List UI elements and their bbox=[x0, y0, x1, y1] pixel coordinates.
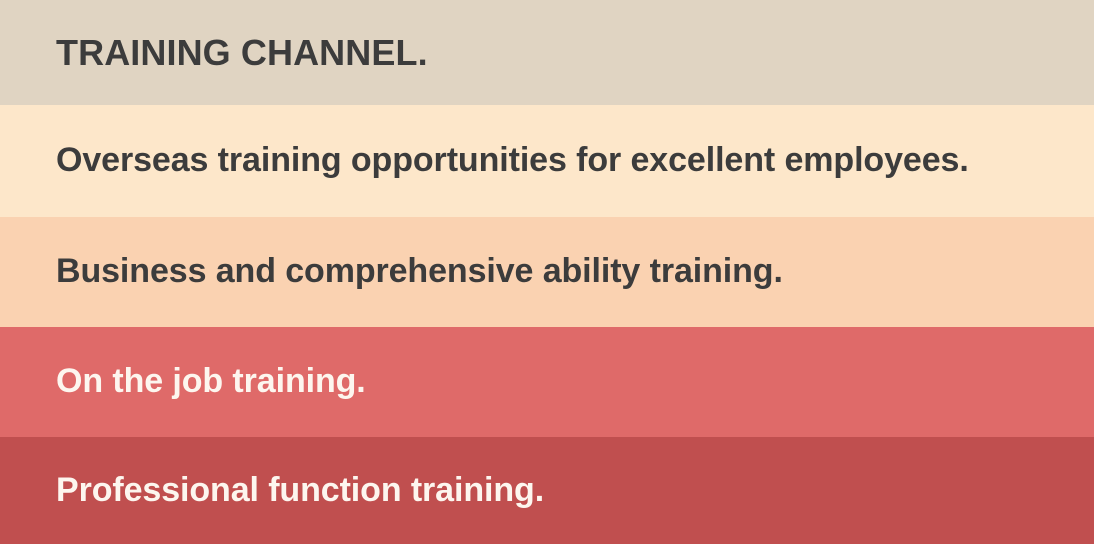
training-row-label: Professional function training. bbox=[56, 473, 544, 509]
training-channel-panel: TRAINING CHANNEL. Overseas training oppo… bbox=[0, 0, 1094, 544]
training-row-label: Business and comprehensive ability train… bbox=[56, 254, 783, 290]
training-row-overseas[interactable]: Overseas training opportunities for exce… bbox=[0, 105, 1094, 217]
page-title: TRAINING CHANNEL. bbox=[56, 34, 428, 72]
panel-header: TRAINING CHANNEL. bbox=[0, 0, 1094, 105]
training-row-label: On the job training. bbox=[56, 364, 366, 400]
training-row-label: Overseas training opportunities for exce… bbox=[56, 143, 969, 179]
training-row-on-the-job[interactable]: On the job training. bbox=[0, 327, 1094, 437]
training-row-business[interactable]: Business and comprehensive ability train… bbox=[0, 217, 1094, 327]
training-row-professional-function[interactable]: Professional function training. bbox=[0, 437, 1094, 544]
